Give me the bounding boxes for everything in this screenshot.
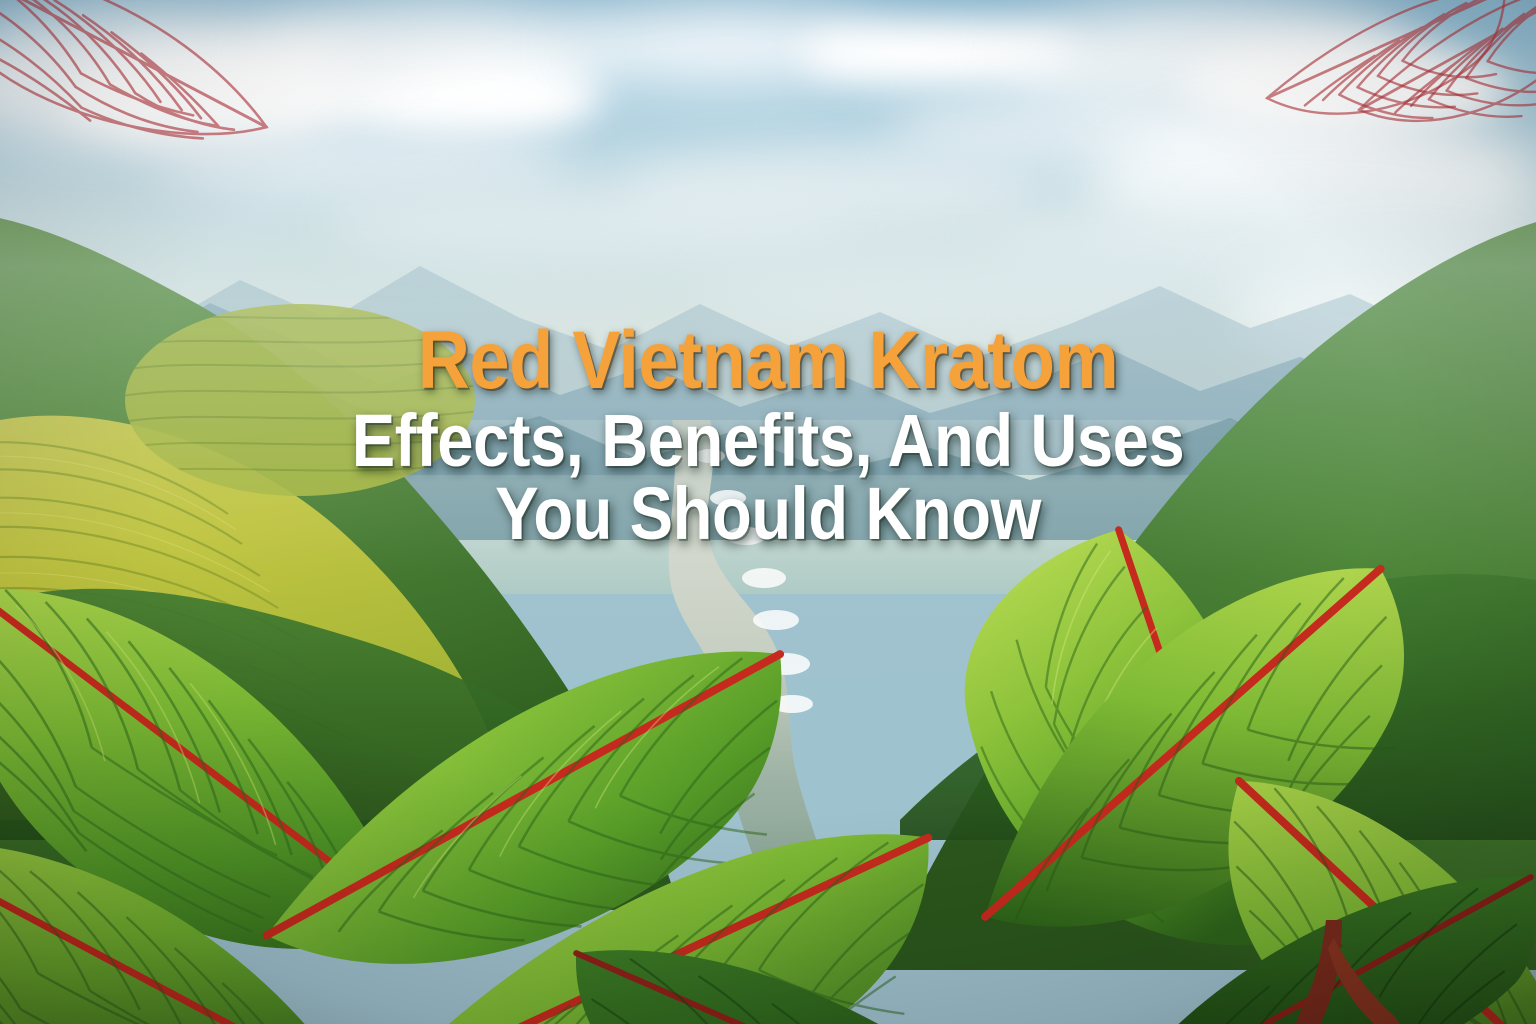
hero-banner: Red Vietnam Kratom Effects, Benefits, An… xyxy=(0,0,1536,1024)
vignette-overlay xyxy=(0,0,1536,1024)
